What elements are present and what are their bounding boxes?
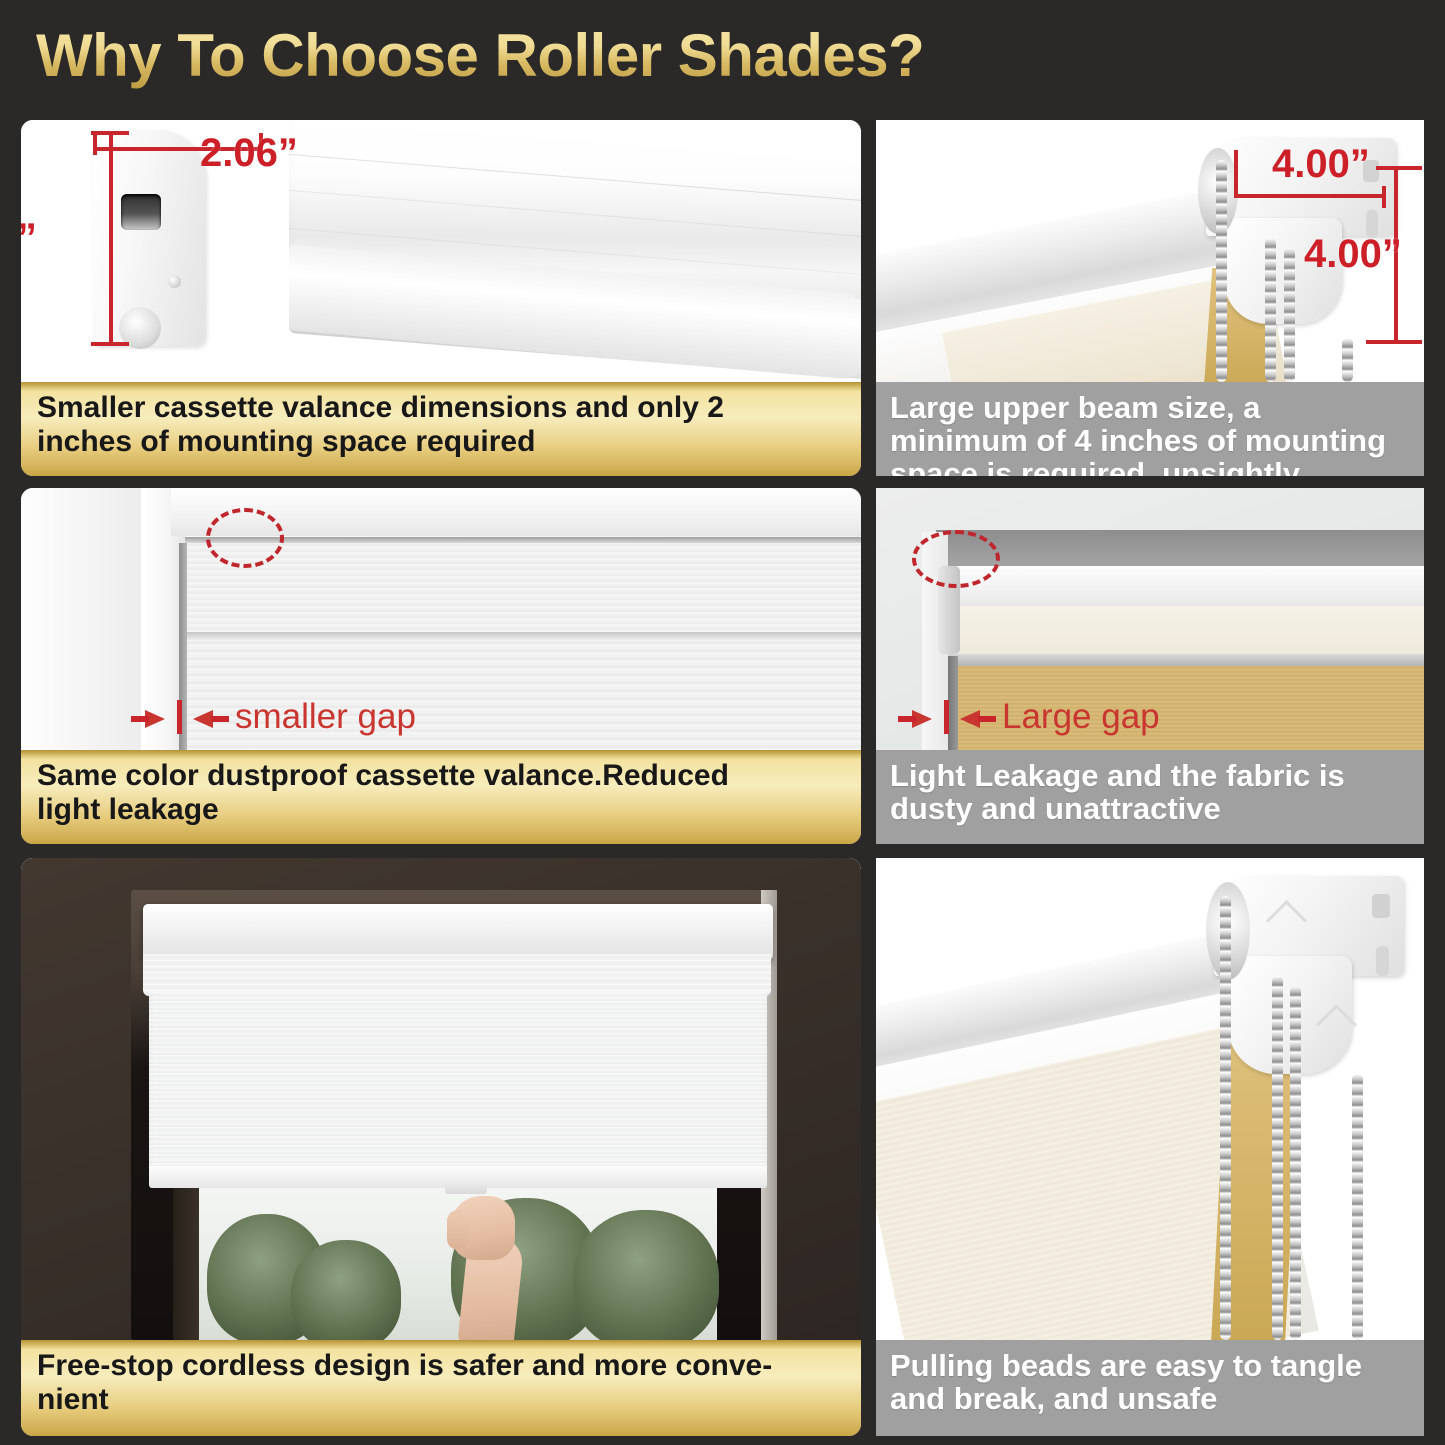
- panel-5-caption-text: Free-stop cordless design is safer and m…: [21, 1340, 786, 1426]
- bead-chain-1: [1220, 896, 1231, 1340]
- bracket-screw-slot-2: [1376, 946, 1389, 976]
- bracket-screw-slot-1: [1372, 894, 1390, 918]
- panel-1-photo: 2.06” 5.49”: [21, 120, 861, 382]
- panel-5: Free-stop cordless design is safer and m…: [21, 858, 861, 1436]
- bead-chain-3: [1284, 248, 1295, 382]
- shade-valance: [143, 954, 771, 996]
- highlight-ellipse: [206, 508, 284, 568]
- bead-chain-3: [1290, 986, 1301, 1340]
- p2-height-dimension-label: 4.00”: [1304, 232, 1402, 277]
- width-dim-tick-left: [93, 133, 97, 155]
- panel-1: 2.06” 5.49” Smaller cassette valance dim…: [21, 120, 861, 476]
- beam-fabric-band: [936, 606, 1424, 658]
- width-dimension-label: 2.06”: [200, 131, 298, 176]
- shade-headrail: [143, 904, 773, 960]
- valance-screw: [168, 275, 181, 288]
- p2-width-tick-left: [1234, 150, 1238, 198]
- gap-arrow-right: [960, 710, 980, 728]
- bead-chain-2: [1265, 238, 1276, 382]
- gap-arrow-left-shaft: [898, 716, 916, 722]
- panel-3-caption-text: Same color dustproof cassette valance.Re…: [21, 750, 743, 836]
- highlight-ellipse: [912, 530, 1000, 588]
- valance-shadow-line: [185, 632, 861, 640]
- tree-right-2: [573, 1210, 719, 1340]
- panel-2-photo: 4.00” 4.00”: [876, 120, 1424, 382]
- window-frame-outer: [21, 488, 141, 750]
- panel-4-caption-text: Light Leakage and the fabric is dusty an…: [876, 750, 1357, 834]
- bead-chain-2: [1272, 976, 1283, 1340]
- p2-width-tick-right: [1382, 186, 1386, 208]
- tree-mid: [291, 1240, 401, 1340]
- panel-6: Pulling beads are easy to tangle and bre…: [876, 858, 1424, 1436]
- height-dim-tick-top: [91, 131, 129, 135]
- bead-chain-1: [1216, 160, 1227, 382]
- p2-width-dim-line: [1234, 194, 1386, 198]
- panel-1-caption-text: Smaller cassette valance dimensions and …: [21, 382, 738, 468]
- panel-4-photo: Large gap: [876, 488, 1424, 750]
- panel-6-photo: [876, 858, 1424, 1340]
- gap-marker-bar: [177, 700, 182, 734]
- gap-marker-bar: [944, 700, 949, 734]
- panel-2: 4.00” 4.00” Large upper beam size, a min…: [876, 120, 1424, 476]
- gap-callout-label: Large gap: [1002, 697, 1160, 737]
- panel-1-caption: Smaller cassette valance dimensions and …: [21, 382, 861, 476]
- panel-3-photo: smaller gap: [21, 488, 861, 750]
- shade-pull-tab: [445, 1178, 487, 1194]
- bead-chain-4: [1352, 1074, 1363, 1340]
- panel-4: Large gap Light Leakage and the fabric i…: [876, 488, 1424, 844]
- bead-chain-4: [1342, 338, 1353, 382]
- gap-arrow-left-shaft: [131, 716, 149, 722]
- p2-height-tick-bottom: [1366, 340, 1422, 344]
- p2-height-tick-top: [1376, 166, 1422, 170]
- panel-2-caption: Large upper beam size, a minimum of 4 in…: [876, 382, 1424, 476]
- panel-6-caption: Pulling beads are easy to tangle and bre…: [876, 1340, 1424, 1436]
- gap-arrow-right: [193, 710, 213, 728]
- gap-arrow-right-shaft: [211, 716, 229, 722]
- gap-callout-label: smaller gap: [235, 697, 416, 737]
- panel-6-caption-text: Pulling beads are easy to tangle and bre…: [876, 1340, 1374, 1424]
- beam-bottom-edge: [934, 654, 1424, 666]
- panel-3: smaller gap Same color dustproof cassett…: [21, 488, 861, 844]
- page-title: Why To Choose Roller Shades?: [36, 21, 924, 90]
- height-dim-line: [109, 131, 113, 346]
- height-dimension-label: 5.49”: [21, 216, 37, 261]
- panel-4-caption: Light Leakage and the fabric is dusty an…: [876, 750, 1424, 844]
- panel-5-photo: [21, 858, 861, 1340]
- title-bar: Why To Choose Roller Shades?: [0, 0, 1445, 112]
- panel-2-caption-text: Large upper beam size, a minimum of 4 in…: [876, 382, 1398, 476]
- shade-fabric: [149, 992, 767, 1180]
- cassette-valance: [185, 543, 861, 635]
- gap-arrow-right-shaft: [978, 716, 996, 722]
- comparison-grid: 2.06” 5.49” Smaller cassette valance dim…: [0, 112, 1445, 1445]
- valance-slot: [121, 194, 161, 230]
- ceiling-recess: [936, 530, 1424, 570]
- hand-thumb: [447, 1210, 469, 1250]
- panel-5-caption: Free-stop cordless design is safer and m…: [21, 1340, 861, 1436]
- p2-width-dimension-label: 4.00”: [1272, 142, 1370, 187]
- height-dim-tick-bottom: [91, 342, 129, 346]
- panel-3-caption: Same color dustproof cassette valance.Re…: [21, 750, 861, 844]
- window-mullion: [173, 1186, 199, 1340]
